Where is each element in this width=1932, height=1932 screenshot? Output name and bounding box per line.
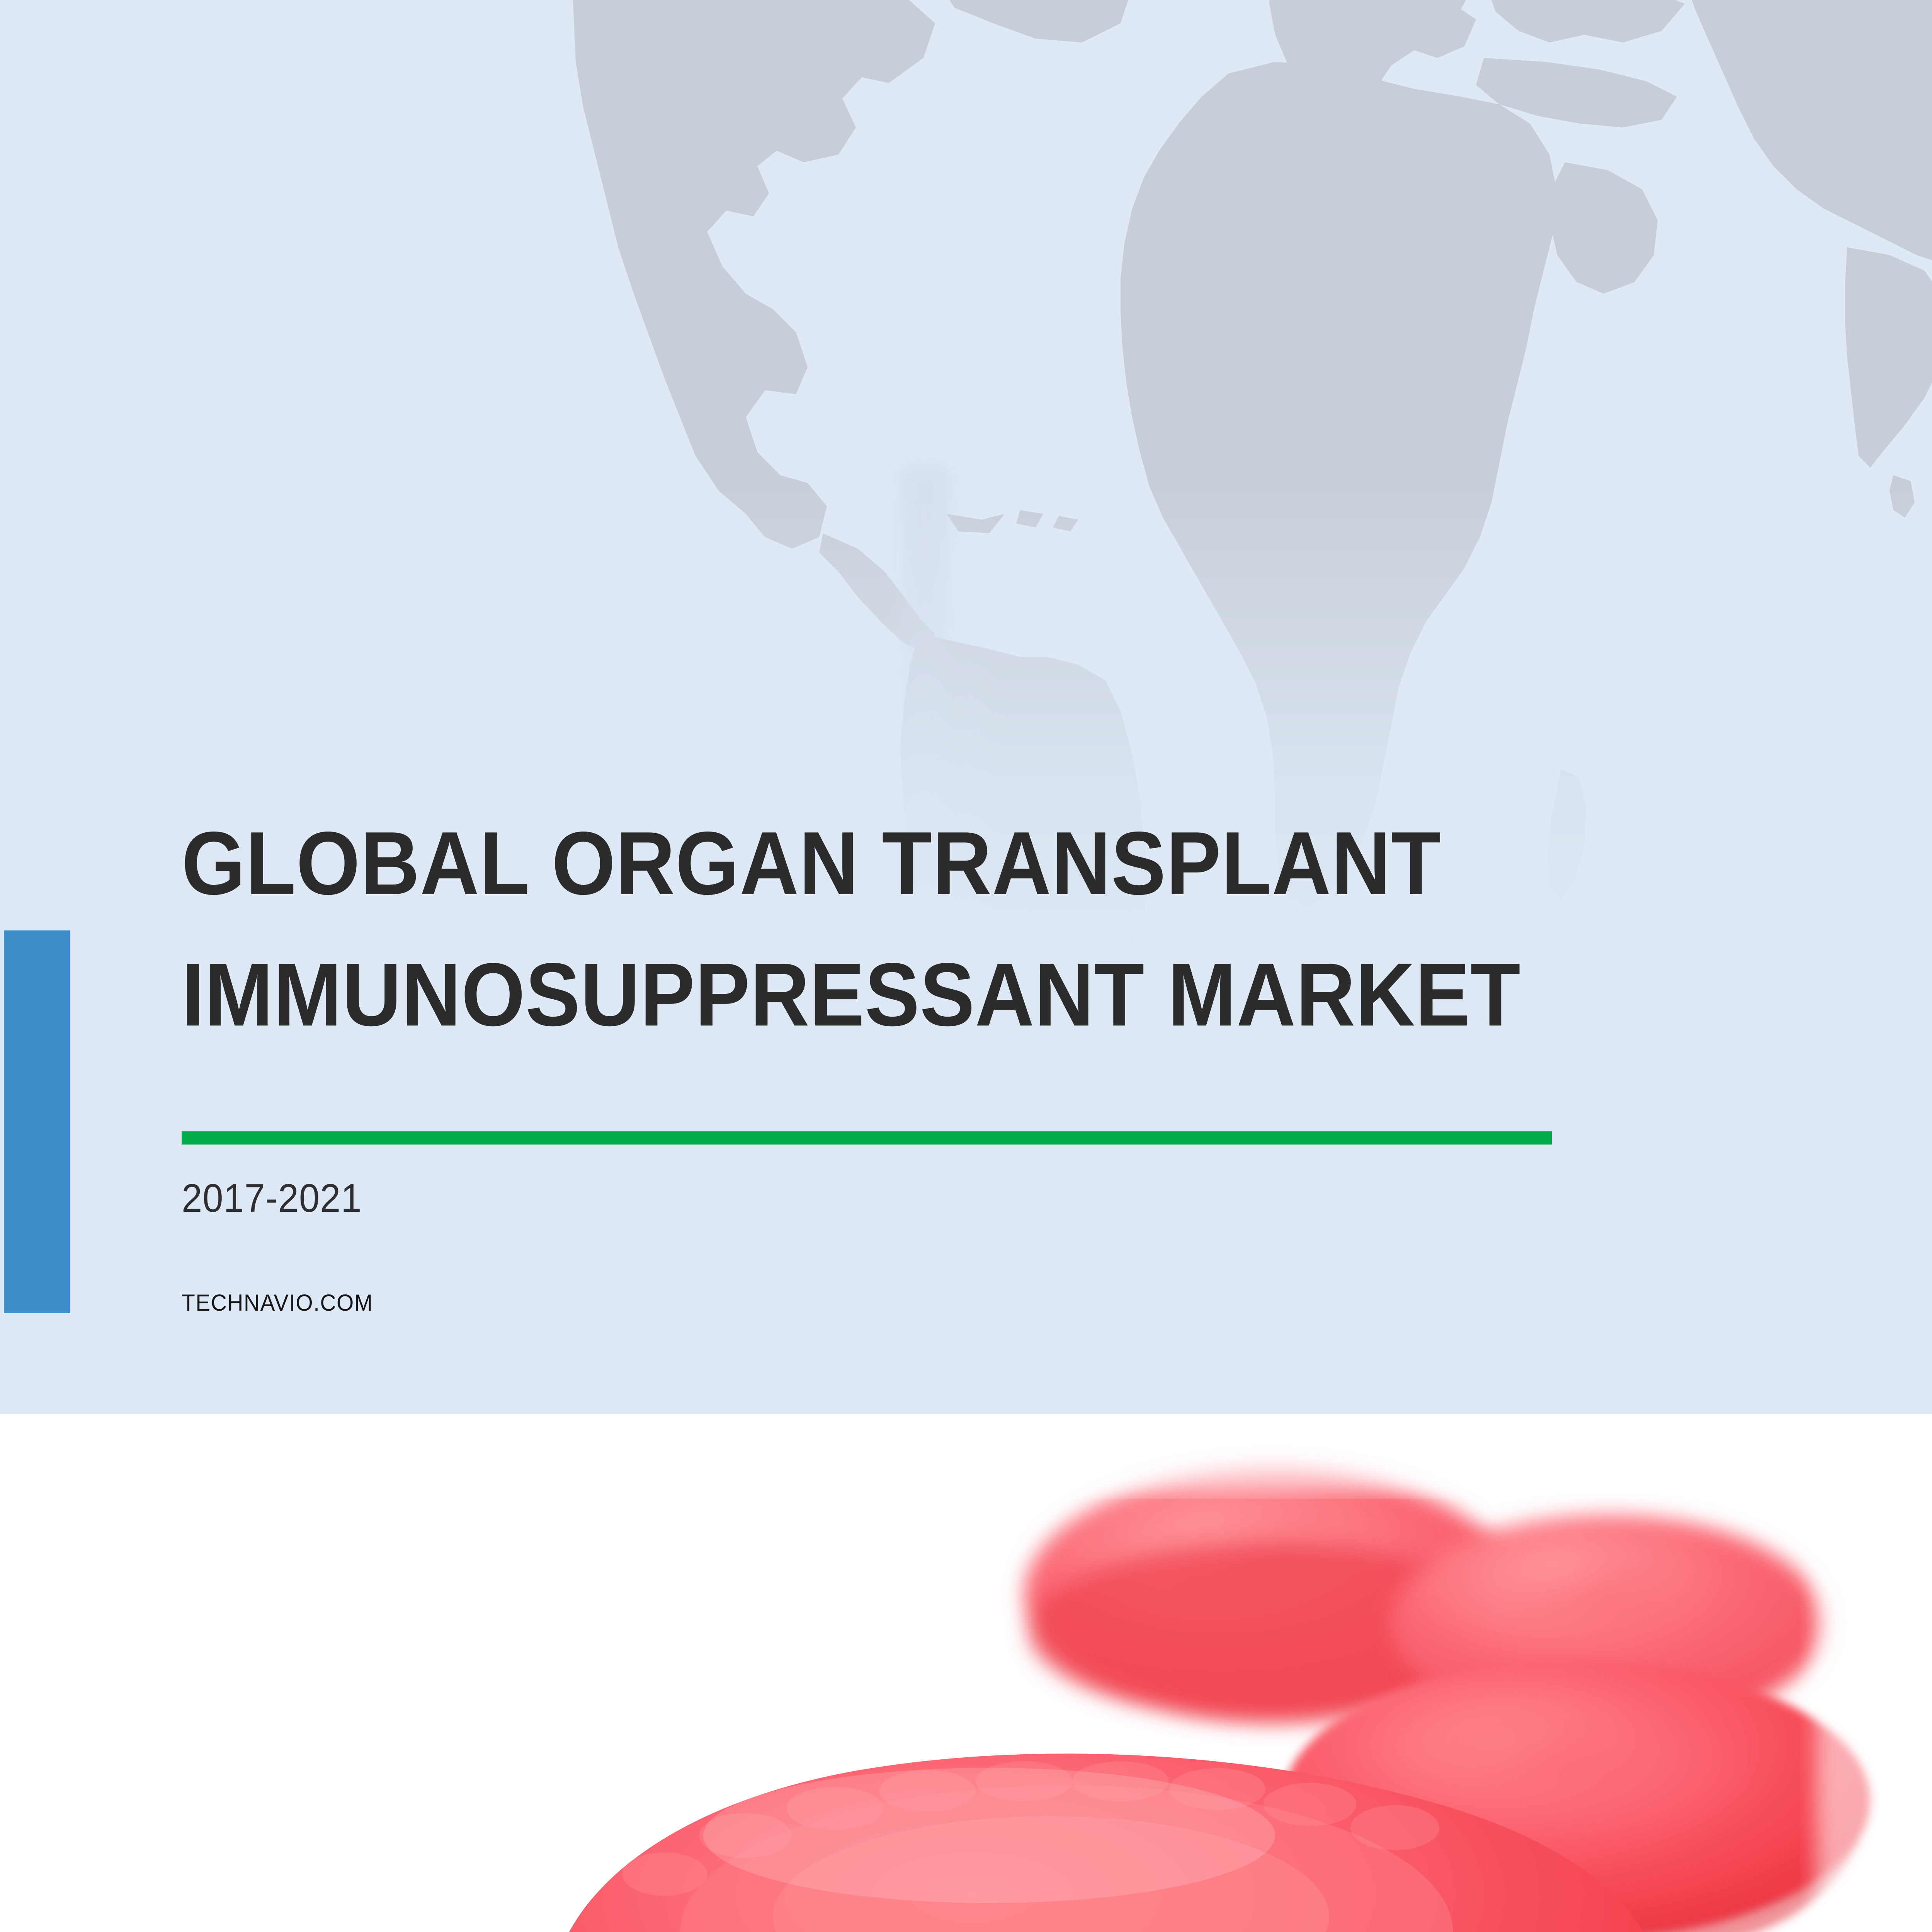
cover-header: GLOBAL ORGAN TRANSPLANT IMMUNOSUPPRESSAN… [0,0,1932,1414]
publisher-brand: TECHNAVIO.COM [182,1289,373,1316]
title-line-2: IMMUNOSUPPRESSANT MARKET [182,929,1631,1061]
green-divider-rule [182,1131,1552,1145]
report-period: 2017-2021 [182,1175,362,1221]
blue-accent-bar [4,930,70,1313]
report-cover-page: GLOBAL ORGAN TRANSPLANT IMMUNOSUPPRESSAN… [0,0,1932,1932]
cover-photo-blood-cells-capsules [0,1414,1932,1932]
page-title: GLOBAL ORGAN TRANSPLANT IMMUNOSUPPRESSAN… [182,798,1766,1061]
title-line-1: GLOBAL ORGAN TRANSPLANT [182,798,1631,929]
